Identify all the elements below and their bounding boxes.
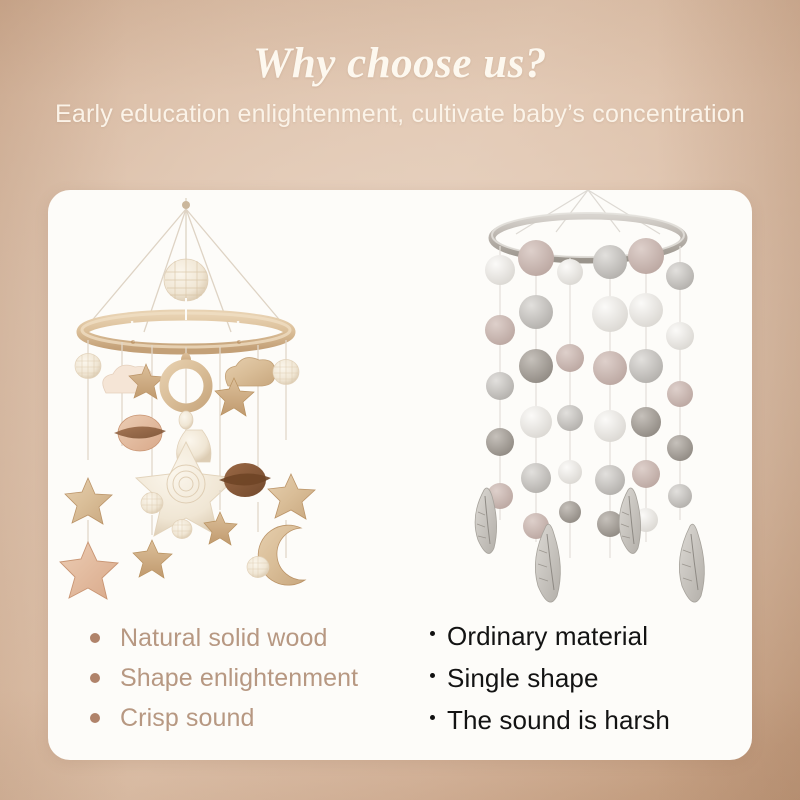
comparison-card: Natural solid wood Shape enlightenment C…	[48, 190, 752, 760]
list-item: Ordinary material	[430, 615, 752, 657]
crochet-ball-top	[164, 259, 208, 301]
competitor-features-list: Ordinary material Single shape The sound…	[422, 605, 752, 760]
feature-label: Shape enlightenment	[120, 664, 358, 693]
list-item: Single shape	[430, 657, 752, 699]
bullet-dot-icon	[430, 673, 435, 678]
wooden-feather	[679, 524, 704, 602]
list-item: The sound is harsh	[430, 699, 752, 741]
feature-label: Single shape	[447, 663, 599, 694]
bullet-dot-icon	[90, 713, 100, 723]
header: Why choose us? Early education enlighten…	[0, 0, 800, 131]
hanging-shapes-row1	[75, 353, 299, 416]
feature-label: The sound is harsh	[447, 705, 670, 736]
feature-label: Natural solid wood	[120, 624, 327, 653]
bullet-dot-icon	[430, 631, 435, 636]
our-product-photo	[48, 190, 438, 605]
our-features-list: Natural solid wood Shape enlightenment C…	[48, 605, 422, 760]
wooden-hoop	[82, 298, 290, 349]
list-item: Natural solid wood	[90, 618, 422, 658]
competitor-product-photo	[438, 190, 752, 605]
list-item: Shape enlightenment	[90, 658, 422, 698]
bullet-dot-icon	[90, 673, 100, 683]
list-item: Crisp sound	[90, 698, 422, 738]
product-photo-area	[48, 190, 752, 605]
bullet-dot-icon	[90, 633, 100, 643]
page-title: Why choose us?	[0, 0, 800, 85]
feature-label: Ordinary material	[447, 621, 648, 652]
bullet-dot-icon	[430, 715, 435, 720]
feature-label: Crisp sound	[120, 704, 255, 733]
page-subtitle: Early education enlightenment, cultivate…	[0, 99, 800, 131]
hanging-shapes-row2	[65, 411, 315, 539]
feature-comparison-lists: Natural solid wood Shape enlightenment C…	[48, 605, 752, 760]
wooden-feather	[619, 488, 640, 553]
